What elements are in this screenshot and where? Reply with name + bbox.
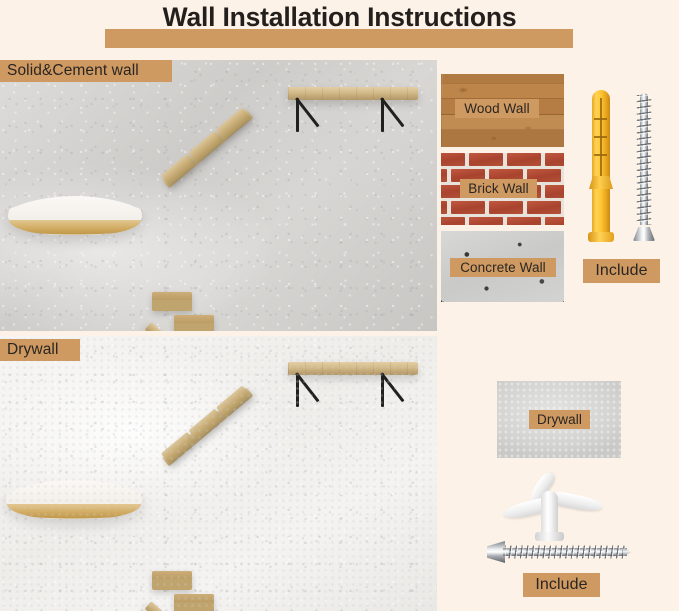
cat-climbing-plank-upper (162, 387, 260, 475)
bracket-vertical-arm (381, 98, 384, 132)
cat-climbing-stairs-lower (152, 285, 262, 331)
plank-rail (162, 109, 253, 188)
brick (545, 153, 564, 166)
brick (527, 201, 561, 214)
tread-carpet-top (152, 292, 192, 300)
swatch-label-wood-wall: Wood Wall (455, 99, 539, 118)
silver-screw-vertical-icon (633, 93, 655, 241)
photo-solid-cement-wall (0, 60, 437, 331)
anchor-rib (594, 154, 607, 156)
bracket-diagonal-arm (380, 372, 405, 402)
brick (441, 217, 465, 225)
hammock-wood-rim (7, 504, 140, 520)
stairs-tread (152, 292, 192, 311)
screw-head (633, 227, 655, 241)
shelf-bracket-right (381, 98, 408, 132)
wall-shelf (288, 362, 418, 410)
plank-step (216, 386, 250, 418)
bracket-diagonal-arm (380, 97, 405, 127)
stairs-spine (145, 601, 247, 611)
brick (545, 217, 564, 225)
screw-threads (505, 543, 625, 561)
hammock-wood-rim (9, 220, 140, 236)
anchor-flange (588, 232, 614, 242)
brick (545, 185, 564, 198)
include-label-bottom: Include (523, 573, 600, 597)
brick-row (441, 153, 564, 168)
hammock-pad (6, 467, 142, 519)
include-label-top: Include (583, 259, 660, 283)
bracket-vertical-arm (296, 373, 299, 407)
plank-step (189, 409, 223, 441)
tread-carpet-top (174, 315, 214, 323)
anchor-rib (594, 136, 607, 138)
stairs-tread (174, 594, 214, 611)
cat-hammock-perch (6, 467, 142, 519)
brick-row (441, 201, 564, 216)
wall-shelf (288, 87, 418, 135)
brick (469, 153, 503, 166)
brick (451, 201, 485, 214)
cat-climbing-plank-upper (162, 109, 260, 197)
photo-drywall (0, 336, 437, 611)
stairs-tread (152, 571, 192, 590)
stairs-tread (174, 315, 214, 331)
toggle-barrel (541, 491, 558, 535)
shelf-board (288, 362, 418, 375)
brick (441, 153, 465, 166)
bracket-vertical-arm (381, 373, 384, 407)
yellow-expansion-anchor-icon (588, 90, 614, 242)
brick (441, 201, 447, 214)
tread-carpet-top (174, 594, 214, 602)
cat-hammock-perch (8, 183, 142, 235)
shelf-bracket-right (381, 373, 408, 407)
shelf-bracket-left (296, 373, 323, 407)
bracket-diagonal-arm (295, 372, 320, 402)
toggle-wing-right (550, 490, 604, 514)
hammock-pad (8, 183, 142, 235)
brick (507, 217, 541, 225)
brick-row (441, 217, 564, 225)
label-drywall: Drywall (0, 339, 80, 361)
cat-climbing-stairs-lower (152, 564, 262, 611)
plank-step (189, 131, 223, 163)
plank-step (216, 108, 250, 140)
plank-step (161, 154, 195, 186)
label-solid-cement-wall: Solid&Cement wall (0, 60, 172, 82)
plank-step (161, 432, 195, 464)
stairs-spine (145, 322, 247, 331)
swatch-label-concrete-wall: Concrete Wall (450, 258, 556, 277)
swatch-label-drywall: Drywall (529, 410, 590, 429)
brick (507, 153, 541, 166)
screw-threads (635, 95, 653, 225)
swatch-label-brick-wall: Brick Wall (460, 179, 537, 198)
bracket-diagonal-arm (295, 97, 320, 127)
brick (489, 201, 523, 214)
shelf-board (288, 87, 418, 100)
bracket-vertical-arm (296, 98, 299, 132)
toggle-base-flange (535, 532, 564, 541)
anchor-collar (589, 176, 613, 189)
brick (469, 217, 503, 225)
shelf-bracket-left (296, 98, 323, 132)
plank-rail (162, 387, 253, 466)
silver-screw-horizontal-icon (487, 541, 632, 563)
brick (441, 169, 447, 182)
tread-carpet-top (152, 571, 192, 579)
anchor-rib (594, 118, 607, 120)
white-toggle-anchor-icon (503, 473, 603, 541)
page-header: Wall Installation Instructions (0, 0, 679, 56)
screw-tip (623, 548, 632, 556)
page-title: Wall Installation Instructions (0, 2, 679, 33)
